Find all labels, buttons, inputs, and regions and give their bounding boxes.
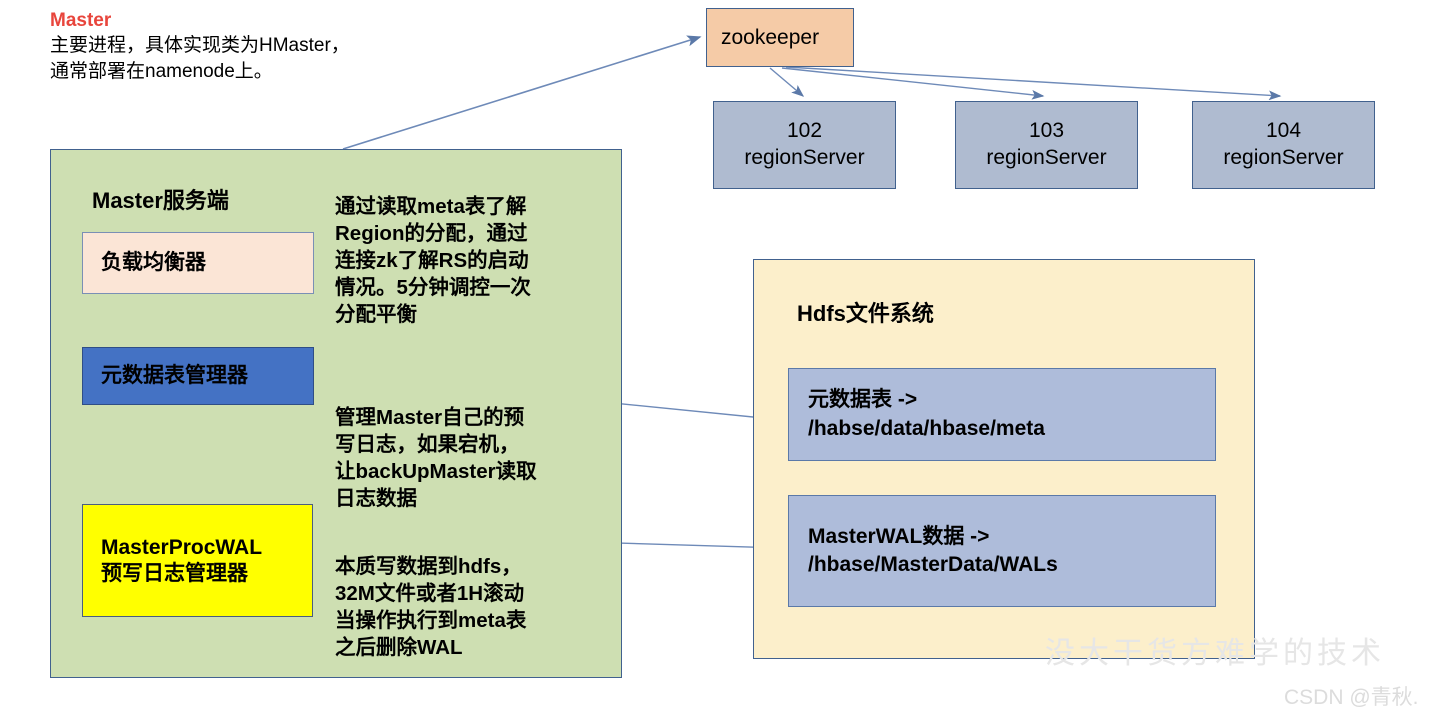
component-load-balancer[interactable]: 负载均衡器 [82,232,314,294]
edge-zookeeper-to-rs103 [782,68,1043,96]
watermark-csdn: CSDN @青秋. [1284,681,1419,711]
hdfs-entry-wal-path[interactable]: MasterWAL数据 -> /hbase/MasterData/WALs [788,495,1216,607]
region-server-103-number: 103 [1029,118,1064,145]
master-note-title: Master [50,8,380,33]
hdfs-wal-line2: /hbase/MasterData/WALs [808,551,1215,579]
zookeeper-node[interactable]: zookeeper [706,8,854,67]
hdfs-entry-meta-path[interactable]: 元数据表 -> /habse/data/hbase/meta [788,368,1216,461]
watermark-center: 没大干货方难学的技术 [1045,628,1385,672]
region-server-104[interactable]: 104 regionServer [1192,101,1375,189]
component-masterprocwal[interactable]: MasterProcWAL 预写日志管理器 [82,504,313,617]
edge-zookeeper-to-rs104 [786,67,1280,96]
edge-zookeeper-to-rs102 [770,68,803,96]
region-server-104-role: regionServer [1223,145,1343,172]
region-server-102[interactable]: 102 regionServer [713,101,896,189]
region-server-103[interactable]: 103 regionServer [955,101,1138,189]
hdfs-meta-line2: /habse/data/hbase/meta [808,415,1215,443]
annotation-masterprocwal: 本质写数据到hdfs， 32M文件或者1H滚动 当操作执行到meta表 之后删除… [335,553,610,661]
hdfs-meta-line1: 元数据表 -> [808,386,1215,414]
hdfs-wal-line1: MasterWAL数据 -> [808,523,1215,551]
region-server-102-number: 102 [787,118,822,145]
hdfs-title: Hdfs文件系统 [797,296,934,328]
region-server-103-role: regionServer [986,145,1106,172]
diagram-canvas: Master 主要进程，具体实现类为HMaster， 通常部署在namenode… [0,0,1449,723]
master-note: Master 主要进程，具体实现类为HMaster， 通常部署在namenode… [50,8,380,84]
annotation-meta-manager: 管理Master自己的预 写日志，如果宕机， 让backUpMaster读取 日… [335,404,610,512]
region-server-104-number: 104 [1266,118,1301,145]
component-meta-table-manager[interactable]: 元数据表管理器 [82,347,314,405]
edge-master-to-zookeeper [343,37,700,149]
masterprocwal-line2: 预写日志管理器 [101,561,248,587]
master-note-line1: 主要进程，具体实现类为HMaster， [50,33,380,58]
master-server-title: Master服务端 [92,183,229,215]
master-note-line2: 通常部署在namenode上。 [50,59,380,84]
annotation-load-balancer: 通过读取meta表了解 Region的分配，通过 连接zk了解RS的启动 情况。… [335,193,605,328]
masterprocwal-line1: MasterProcWAL [101,535,262,561]
region-server-102-role: regionServer [744,145,864,172]
